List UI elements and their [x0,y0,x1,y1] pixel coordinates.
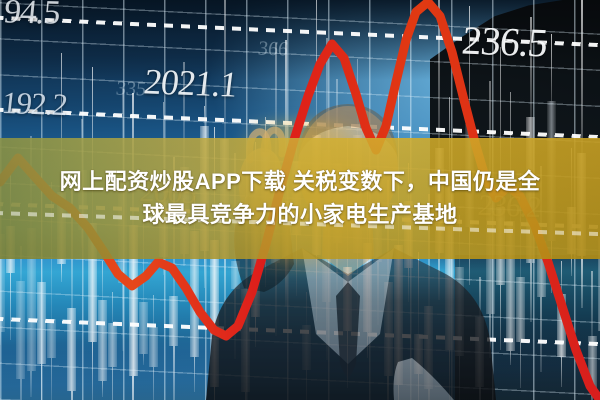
banner-image: 94.5 192.2 2021.1 236.5 335 366 [0,0,600,400]
caption-line-2: 球最具竞争力的小家电生产基地 [142,200,457,230]
caption-text-block: 网上配资炒股APP下载 关税变数下，中国仍是全 球最具竞争力的小家电生产基地 [0,138,600,259]
caption-line-1: 网上配资炒股APP下载 关税变数下，中国仍是全 [60,167,541,197]
